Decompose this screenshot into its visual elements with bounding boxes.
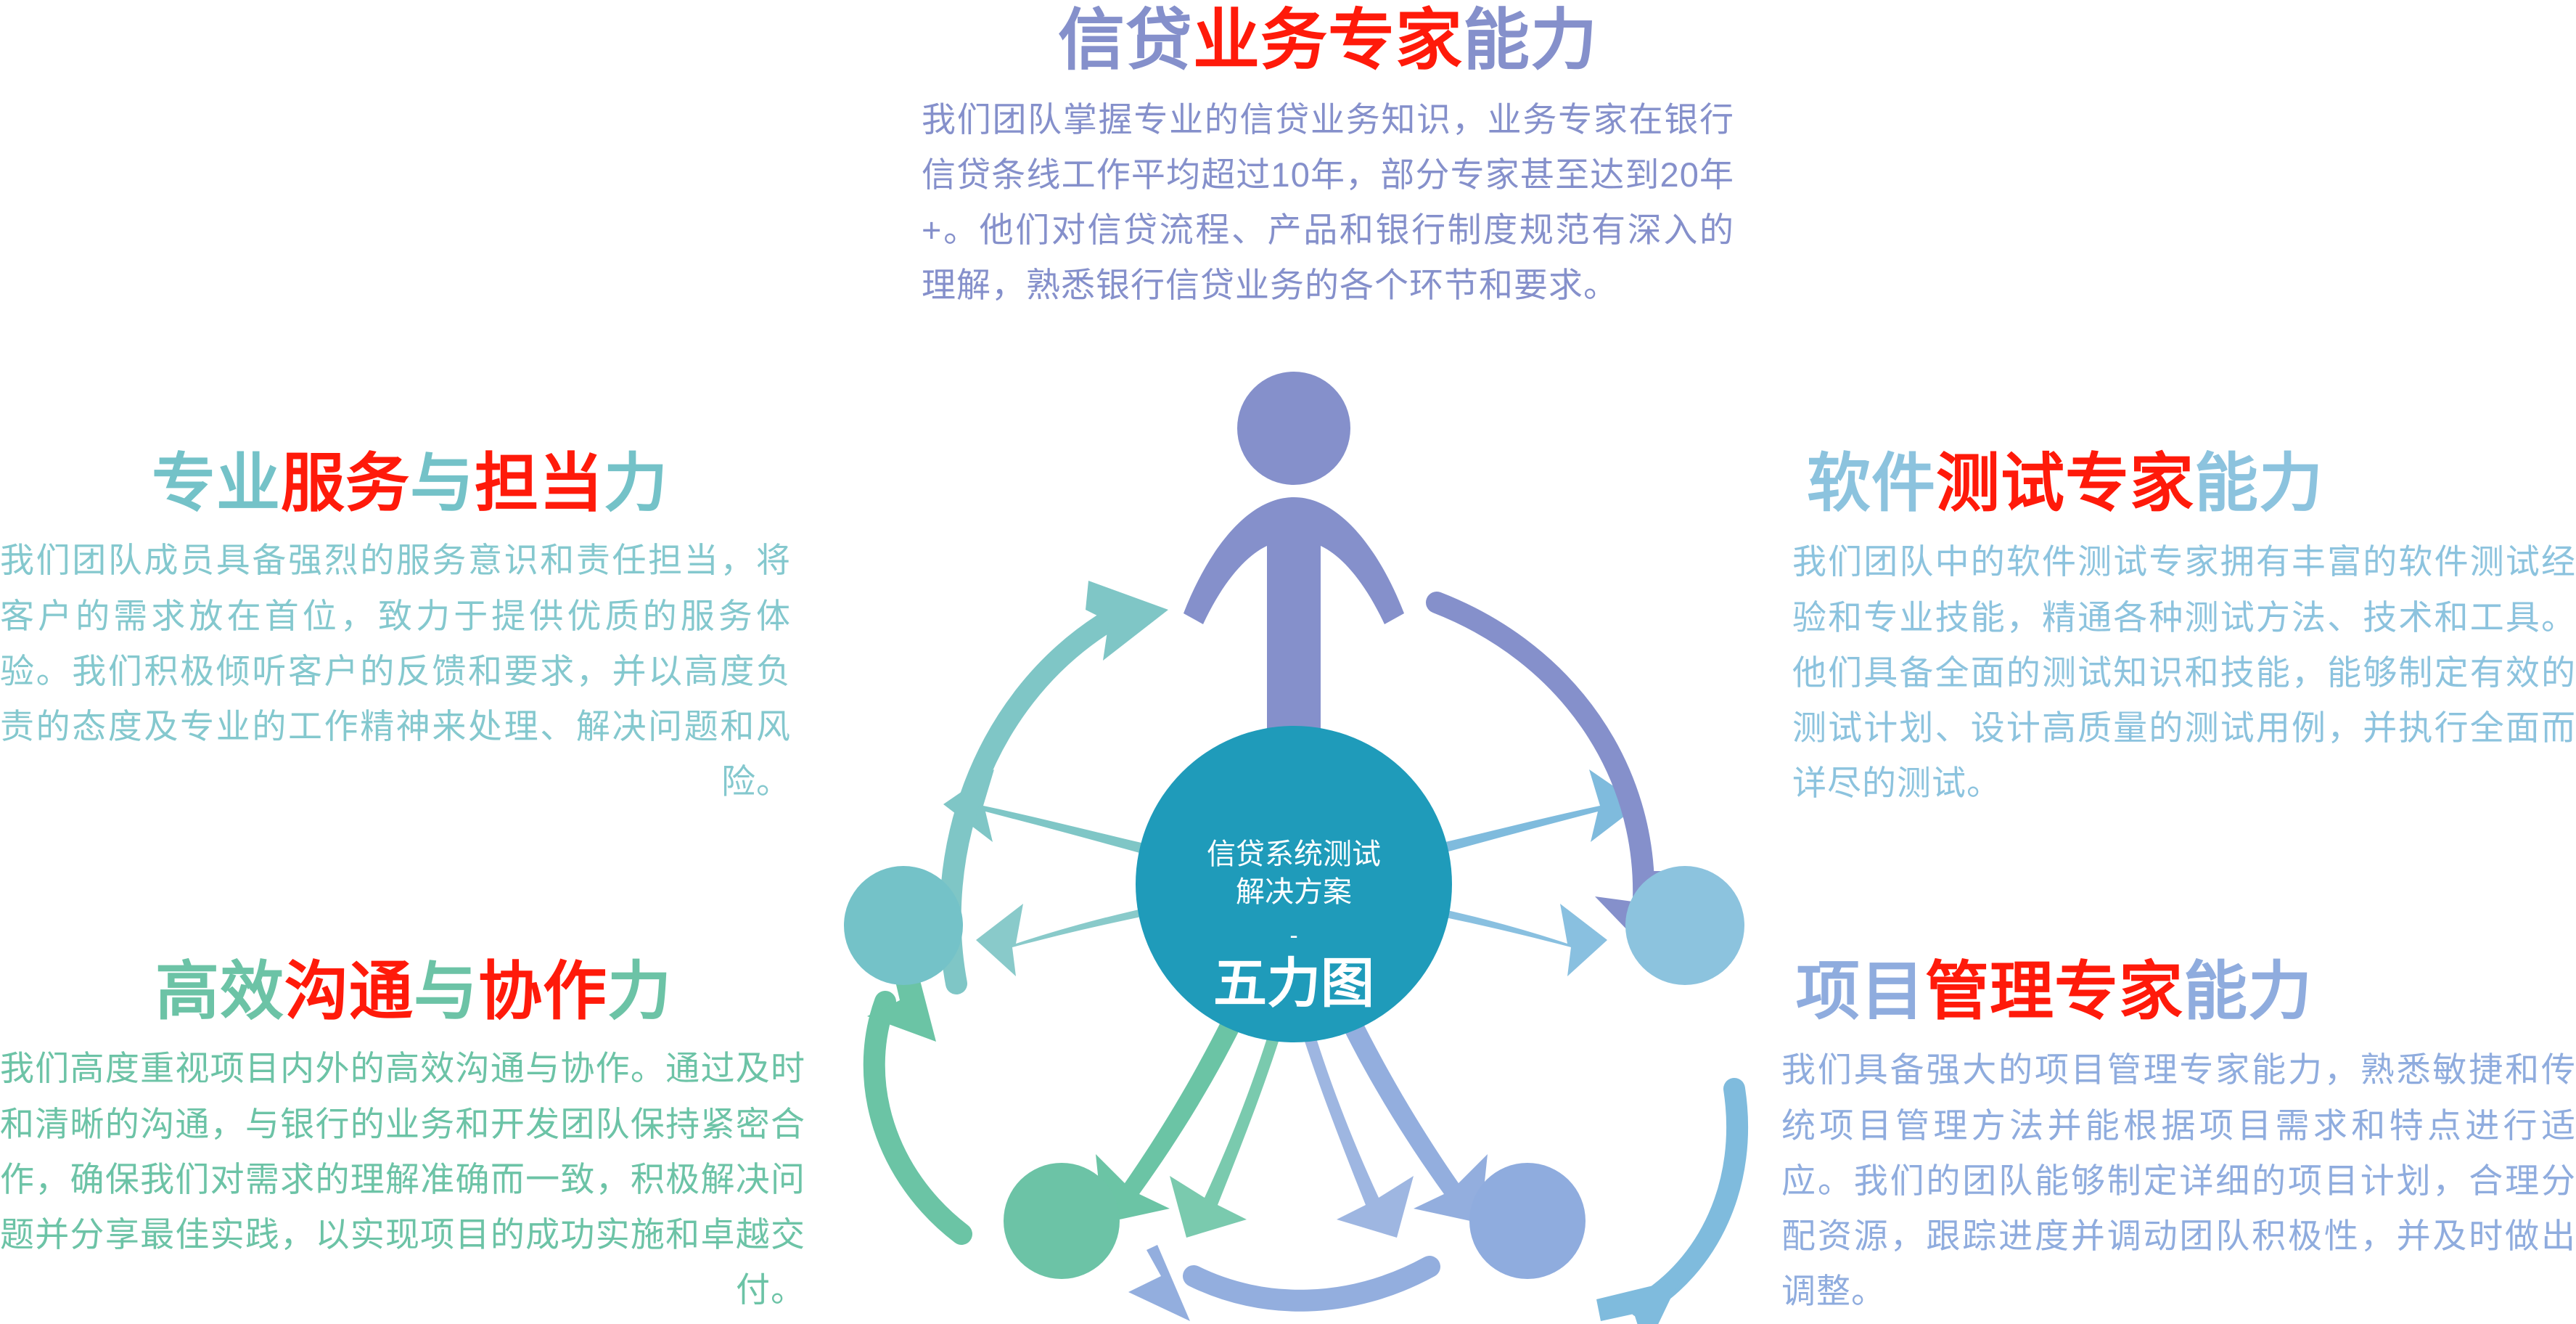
section-communication-collaboration: 高效沟通与协作力 我们高度重视项目内外的高效沟通与协作。通过及时和清晰的沟通，与…	[0, 958, 805, 1317]
pm-heading-part-0: 项目	[1796, 955, 1925, 1027]
qa-heading-part-1: 测试专家	[1936, 447, 2194, 519]
service-heading-part-3: 担当	[475, 447, 604, 519]
section-service-responsibility: 专业服务与担当力 我们团队成员具备强烈的服务意识和责任担当，将客户的需求放在首位…	[0, 450, 791, 809]
qa-body: 我们团队中的软件测试专家拥有丰富的软件测试经验和专业技能，精通各种测试方法、技术…	[1792, 517, 2576, 811]
center-title: 五力图	[1213, 953, 1374, 1013]
section-project-management: 项目管理专家能力 我们具备强大的项目管理专家能力，熟悉敏捷和传统项目管理方法并能…	[1781, 958, 2576, 1319]
service-heading-part-4: 力	[604, 447, 668, 519]
comm-body: 我们高度重视项目内外的高效沟通与协作。通过及时和清晰的沟通，与银行的业务和开发团…	[0, 1025, 805, 1317]
credit-heading-part-1: 业务专家	[1193, 4, 1463, 78]
qa-heading: 软件测试专家能力	[1792, 450, 2576, 517]
node-left	[844, 866, 963, 985]
comm-heading-part-3: 协作	[478, 955, 607, 1027]
service-heading-part-2: 与	[410, 447, 475, 519]
section-qa-expertise: 软件测试专家能力 我们团队中的软件测试专家拥有丰富的软件测试经验和专业技能，精通…	[1792, 450, 2576, 811]
comm-heading: 高效沟通与协作力	[0, 958, 805, 1025]
node-bottom-right	[1469, 1163, 1586, 1279]
comm-heading-part-0: 高效	[155, 955, 284, 1027]
credit-heading-part-0: 信贷	[1058, 4, 1193, 78]
cycle-arrow-right-to-bottom-right	[1596, 1089, 1737, 1324]
pm-heading: 项目管理专家能力	[1781, 958, 2576, 1025]
service-heading-part-1: 服务	[281, 447, 410, 519]
comm-heading-part-2: 与	[414, 955, 478, 1027]
node-right	[1625, 866, 1744, 985]
pm-body: 我们具备强大的项目管理专家能力，熟悉敏捷和传统项目管理方法并能根据项目需求和特点…	[1781, 1025, 2576, 1319]
cycle-arrow-bottom-left-to-left	[867, 958, 961, 1234]
cycle-arrow-left-to-top	[951, 581, 1168, 984]
node-bottom-left	[1004, 1163, 1120, 1279]
center-line-1: 信贷系统测试	[1207, 838, 1381, 870]
credit-heading-part-2: 能力	[1463, 4, 1598, 78]
service-body: 我们团队成员具备强烈的服务意识和责任担当，将客户的需求放在首位，致力于提供优质的…	[0, 517, 791, 809]
five-forces-diagram: 信贷系统测试 解决方案 - 五力图	[798, 363, 1785, 1324]
credit-heading: 信贷业务专家能力	[922, 0, 1734, 76]
qa-heading-part-0: 软件	[1807, 447, 1936, 519]
credit-body: 我们团队掌握专业的信贷业务知识，业务专家在银行信贷条线工作平均超过10年，部分专…	[922, 76, 1734, 314]
service-heading: 专业服务与担当力	[0, 450, 791, 517]
pm-heading-part-2: 能力	[2183, 955, 2313, 1027]
service-heading-part-0: 专业	[152, 447, 281, 519]
cycle-arrow-bottom-right-to-bottom-left	[1128, 1245, 1429, 1321]
qa-heading-part-2: 能力	[2194, 447, 2323, 519]
pm-heading-part-1: 管理专家	[1925, 955, 2183, 1027]
section-credit-expertise: 信贷业务专家能力 我们团队掌握专业的信贷业务知识，业务专家在银行信贷条线工作平均…	[922, 0, 1734, 313]
comm-heading-part-1: 沟通	[284, 955, 414, 1027]
comm-heading-part-4: 力	[607, 955, 672, 1027]
center-dash: -	[1289, 922, 1297, 949]
center-line-2: 解决方案	[1236, 876, 1352, 908]
